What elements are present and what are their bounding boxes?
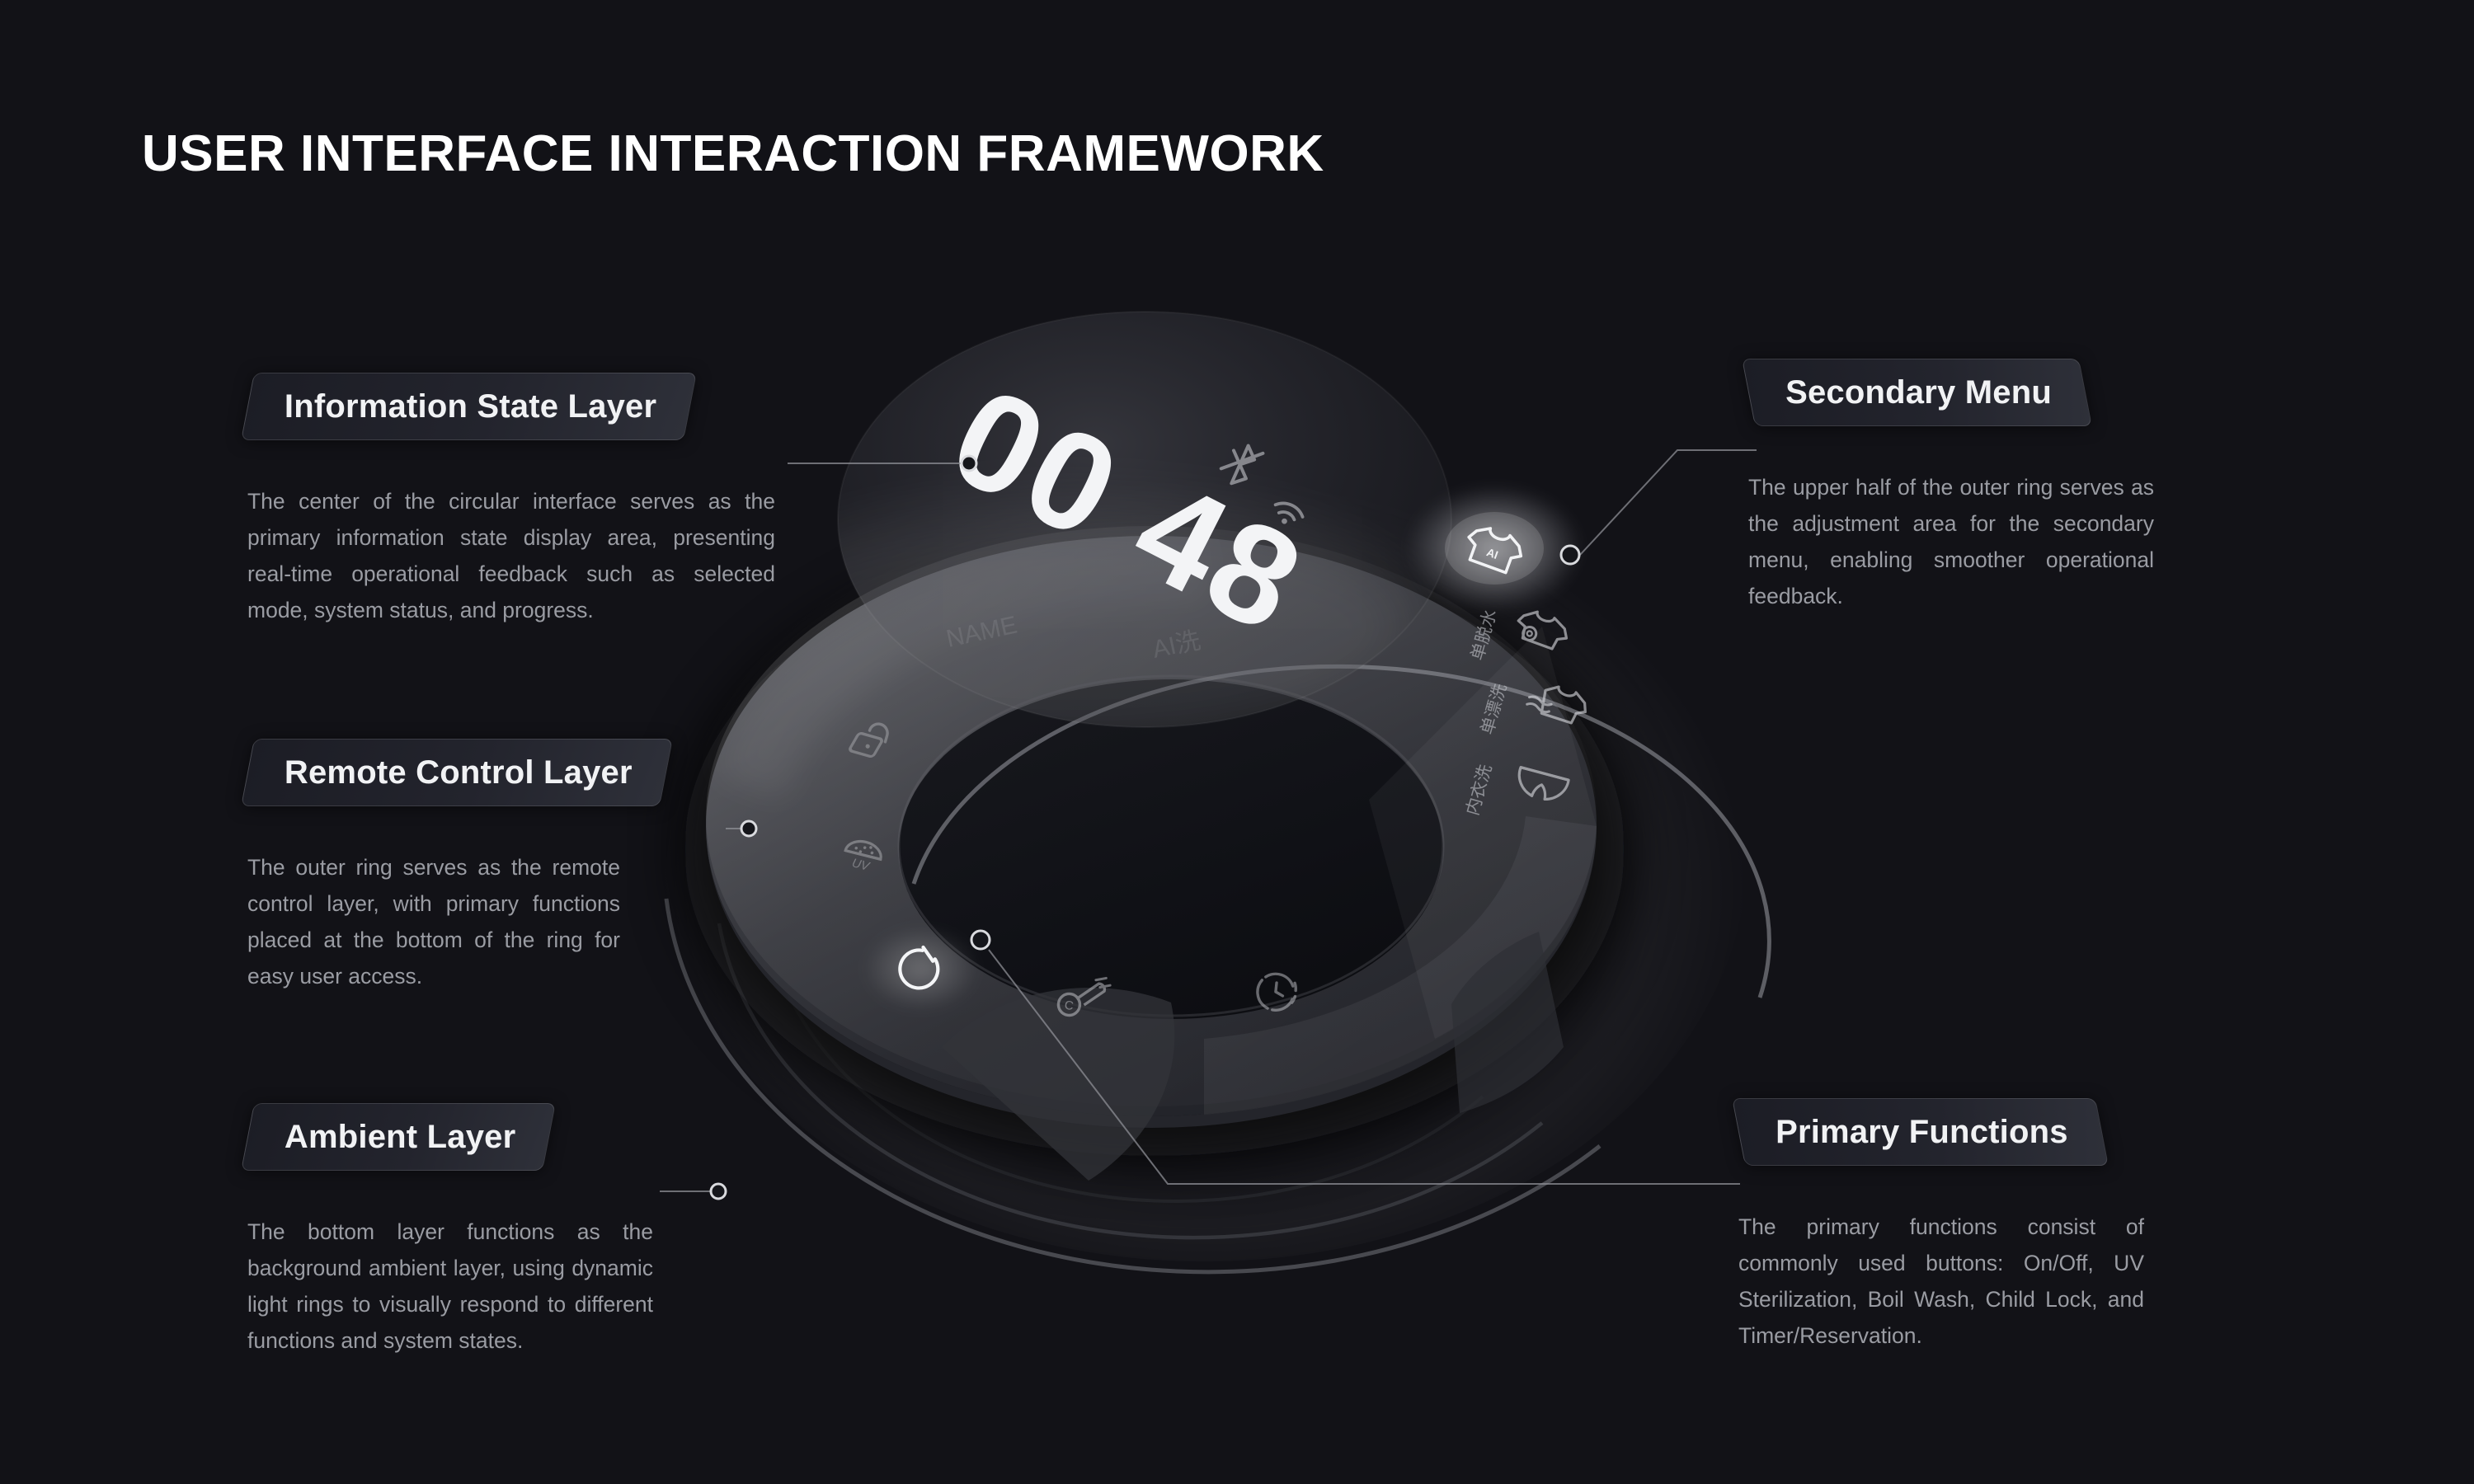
badge-label-information-state-layer: Information State Layer — [285, 388, 656, 425]
badge-secondary-menu[interactable]: Secondary Menu — [1742, 359, 2092, 426]
body-ambient-layer: The bottom layer functions as the backgr… — [247, 1214, 653, 1359]
ring-svg: NAME AI洗 00 48 — [627, 272, 1880, 1344]
body-information-state-layer: The center of the circular interface ser… — [247, 483, 775, 628]
infographic-stage: USER INTERFACE INTERACTION FRAMEWORK — [0, 0, 2474, 1484]
body-secondary-menu: The upper half of the outer ring serves … — [1748, 469, 2154, 614]
badge-wrap-remote-control-layer: Remote Control Layer — [247, 739, 666, 806]
badge-information-state-layer[interactable]: Information State Layer — [241, 373, 697, 440]
body-primary-functions: The primary functions consist of commonl… — [1738, 1209, 2144, 1354]
badge-label-remote-control-layer: Remote Control Layer — [285, 754, 633, 791]
callout-primary-functions: Primary Functions The primary functions … — [1738, 1098, 2167, 1354]
callout-secondary-menu: Secondary Menu The upper half of the out… — [1748, 359, 2177, 614]
badge-label-secondary-menu: Secondary Menu — [1785, 374, 2052, 411]
page-title: USER INTERFACE INTERACTION FRAMEWORK — [142, 124, 1324, 183]
badge-label-ambient-layer: Ambient Layer — [285, 1119, 515, 1156]
badge-remote-control-layer[interactable]: Remote Control Layer — [241, 739, 673, 806]
badge-wrap-secondary-menu: Secondary Menu — [1748, 359, 2086, 426]
badge-label-primary-functions: Primary Functions — [1776, 1114, 2068, 1151]
badge-wrap-primary-functions: Primary Functions — [1738, 1098, 2102, 1166]
callout-information-state-layer: Information State Layer The center of th… — [247, 373, 783, 628]
badge-wrap-information-state-layer: Information State Layer — [247, 373, 690, 440]
badge-wrap-ambient-layer: Ambient Layer — [247, 1103, 549, 1171]
badge-ambient-layer[interactable]: Ambient Layer — [241, 1103, 556, 1171]
badge-primary-functions[interactable]: Primary Functions — [1732, 1098, 2109, 1166]
body-remote-control-layer: The outer ring serves as the remote cont… — [247, 849, 620, 994]
primary-function-power[interactable] — [863, 926, 979, 1012]
device-ring-illustration: NAME AI洗 00 48 — [627, 272, 1880, 1344]
secondary-menu-item-ai-wash[interactable]: AI — [1405, 484, 1583, 613]
callout-ambient-layer: Ambient Layer The bottom layer functions… — [247, 1103, 783, 1359]
callout-remote-control-layer: Remote Control Layer The outer ring serv… — [247, 739, 783, 994]
